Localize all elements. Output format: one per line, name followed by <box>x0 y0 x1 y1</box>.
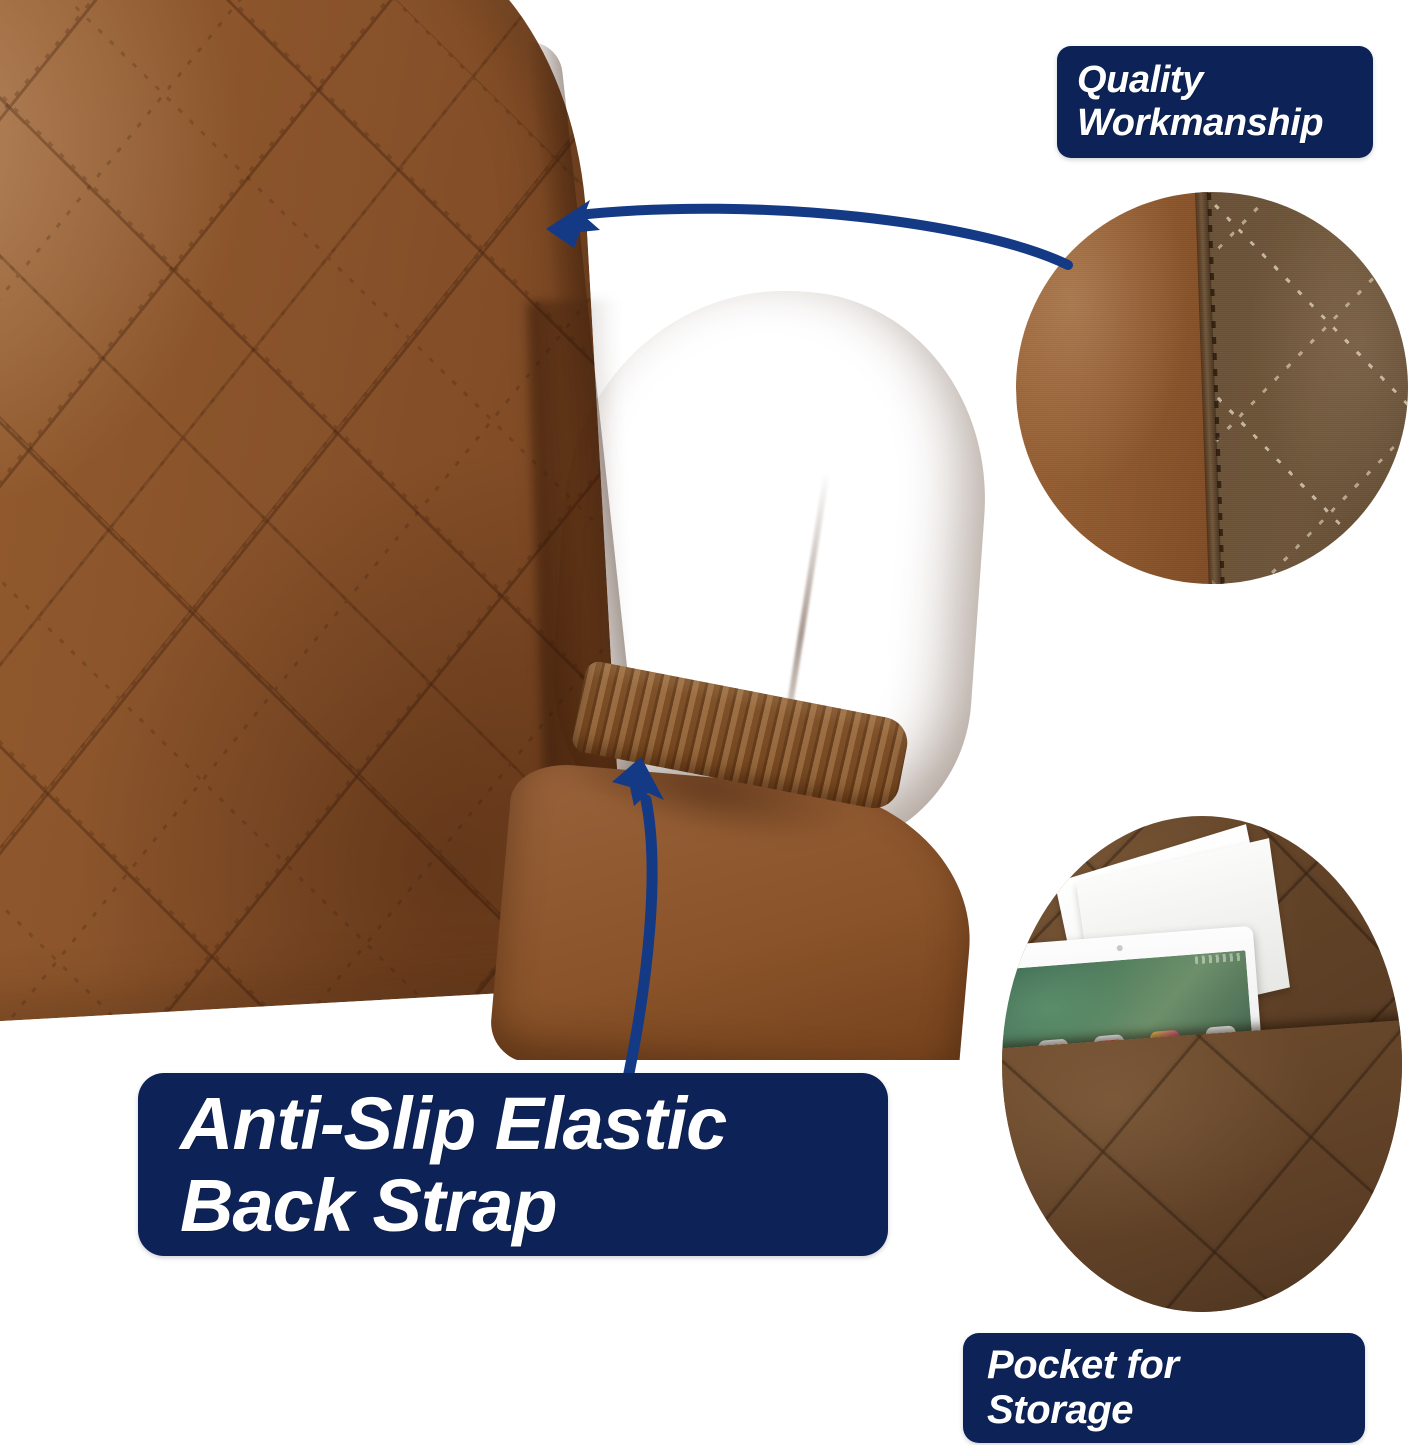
tablet-camera-icon <box>1117 945 1123 951</box>
pocket-front-panel <box>1002 1019 1402 1312</box>
inset-seam-closeup <box>1016 192 1408 584</box>
callout-pocket-for-storage[interactable]: Pocket for Storage <box>963 1333 1365 1443</box>
fabric-texture <box>1016 192 1408 584</box>
pocket-front-quilt <box>1002 1019 1402 1312</box>
callout-pocket-for-storage-label: Pocket for Storage <box>987 1343 1179 1433</box>
product-photo-main <box>0 0 1000 1060</box>
inset-storage-pocket <box>1002 816 1402 1312</box>
callout-quality-workmanship[interactable]: Quality Workmanship <box>1057 46 1373 158</box>
infographic-canvas: Quality Workmanship Anti-Slip Elastic Ba… <box>0 0 1414 1445</box>
callout-quality-workmanship-label: Quality Workmanship <box>1077 59 1323 144</box>
status-bar <box>1195 953 1241 965</box>
callout-anti-slip-elastic-back-strap-label: Anti-Slip Elastic Back Strap <box>180 1083 726 1246</box>
callout-anti-slip-elastic-back-strap[interactable]: Anti-Slip Elastic Back Strap <box>138 1073 888 1256</box>
